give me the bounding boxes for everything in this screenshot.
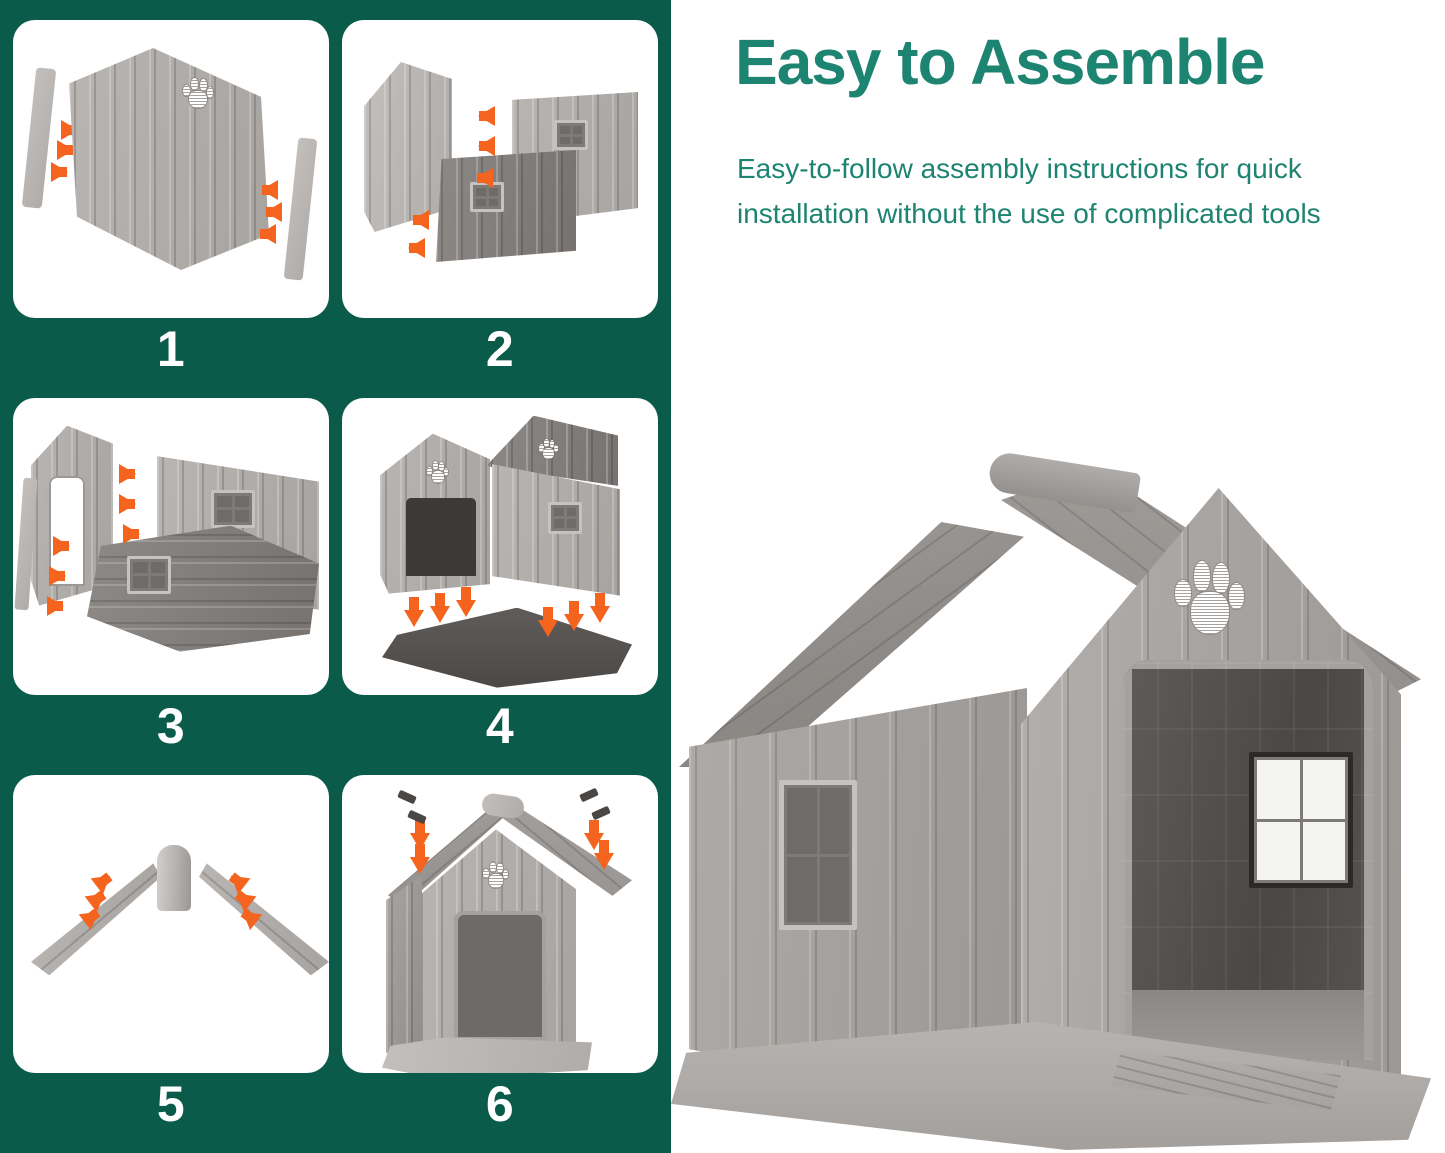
arrow-left-1a — [261, 180, 278, 200]
base-window-step3 — [127, 556, 171, 594]
step-number-3: 3 — [13, 695, 329, 757]
left-trim-strip — [22, 67, 57, 208]
step-card-5[interactable] — [13, 775, 329, 1073]
arrow-down-4b — [430, 606, 450, 623]
step-3-illustration — [13, 398, 329, 696]
arrow-left-2b — [478, 136, 495, 156]
step-cell-6: 6 — [342, 775, 658, 1135]
roof-half-right — [199, 863, 329, 975]
arrow-right-3f — [47, 596, 64, 616]
step-5-illustration — [13, 775, 329, 1073]
paw-print-icon-step4-left — [426, 460, 448, 484]
step-number-5: 5 — [13, 1073, 329, 1135]
arrow-left-2c — [476, 168, 493, 188]
side-window-step2 — [554, 120, 588, 150]
step-2-illustration — [342, 20, 658, 318]
step-row-3: 5 — [13, 775, 658, 1135]
arrow-down-4d — [538, 620, 558, 637]
step-card-6[interactable] — [342, 775, 658, 1073]
paw-print-icon-step4-right — [538, 438, 558, 460]
finished-base — [382, 1037, 592, 1073]
arrow-left-2a — [478, 106, 495, 126]
finished-doorway — [454, 911, 546, 1041]
interior-window — [1249, 752, 1353, 888]
step-1-illustration — [13, 20, 329, 318]
arrow-down-6d — [594, 853, 614, 870]
infographic-page: 1 — [0, 0, 1445, 1153]
paw-print-logo — [1173, 558, 1245, 636]
arrow-right-3e — [49, 566, 66, 586]
step-cell-2: 2 — [342, 20, 658, 380]
step-cell-3: 3 — [13, 398, 329, 758]
arrow-down-4f — [590, 606, 610, 623]
arrow-right-3a — [119, 464, 136, 484]
arrow-right-3d — [53, 536, 70, 556]
page-subcopy: Easy-to-follow assembly instructions for… — [737, 146, 1409, 237]
arrow-right-1b — [57, 140, 74, 160]
arrow-down-4a — [404, 610, 424, 627]
step-number-4: 4 — [342, 695, 658, 757]
arrow-right-3b — [119, 494, 136, 514]
front-gable-panel — [69, 48, 269, 270]
step-6-illustration — [342, 775, 658, 1073]
arrow-down-4c — [456, 600, 476, 617]
side-window-step4 — [548, 502, 582, 534]
step-number-6: 6 — [342, 1073, 658, 1135]
right-trim-strip — [284, 137, 318, 280]
step-cell-5: 5 — [13, 775, 329, 1135]
motion-dash-6c — [579, 788, 599, 803]
step-row-2: 3 — [13, 398, 658, 758]
arrow-left-1c — [259, 224, 276, 244]
arrow-right-3c — [123, 524, 140, 544]
step-number-2: 2 — [342, 318, 658, 380]
finished-side-wall — [386, 875, 422, 1053]
step-card-4[interactable] — [342, 398, 658, 696]
paw-print-icon — [181, 76, 213, 110]
step-card-2[interactable] — [342, 20, 658, 318]
side-window — [779, 780, 857, 930]
assembly-steps-panel: 1 — [0, 0, 671, 1153]
step-card-1[interactable] — [13, 20, 329, 318]
paw-print-icon-step6 — [482, 861, 508, 889]
step-cell-1: 1 — [13, 20, 329, 380]
door-opening-step4 — [406, 498, 476, 576]
arrow-left-2d — [412, 210, 429, 230]
motion-dash-6a — [397, 790, 417, 805]
roof-ridge-cap — [157, 845, 191, 911]
step-number-1: 1 — [13, 318, 329, 380]
front-wall-panel-windowed — [436, 150, 576, 262]
step-row-1: 1 — [13, 20, 658, 380]
arrow-right-1c — [51, 162, 68, 182]
back-wall-panel — [364, 62, 452, 232]
arrow-down-4e — [564, 614, 584, 631]
motion-dash-6d — [591, 806, 611, 821]
step-cell-4: 4 — [342, 398, 658, 758]
assembled-dog-house-image — [671, 450, 1445, 1150]
arrow-left-1b — [265, 202, 282, 222]
arrow-down-6b — [410, 857, 430, 874]
step-card-3[interactable] — [13, 398, 329, 696]
step-4-illustration — [342, 398, 658, 696]
page-title: Easy to Assemble — [735, 28, 1435, 97]
arrow-left-2e — [408, 238, 425, 258]
marketing-panel: Easy to Assemble Easy-to-follow assembly… — [671, 0, 1445, 1153]
right-window-step3 — [211, 490, 255, 528]
